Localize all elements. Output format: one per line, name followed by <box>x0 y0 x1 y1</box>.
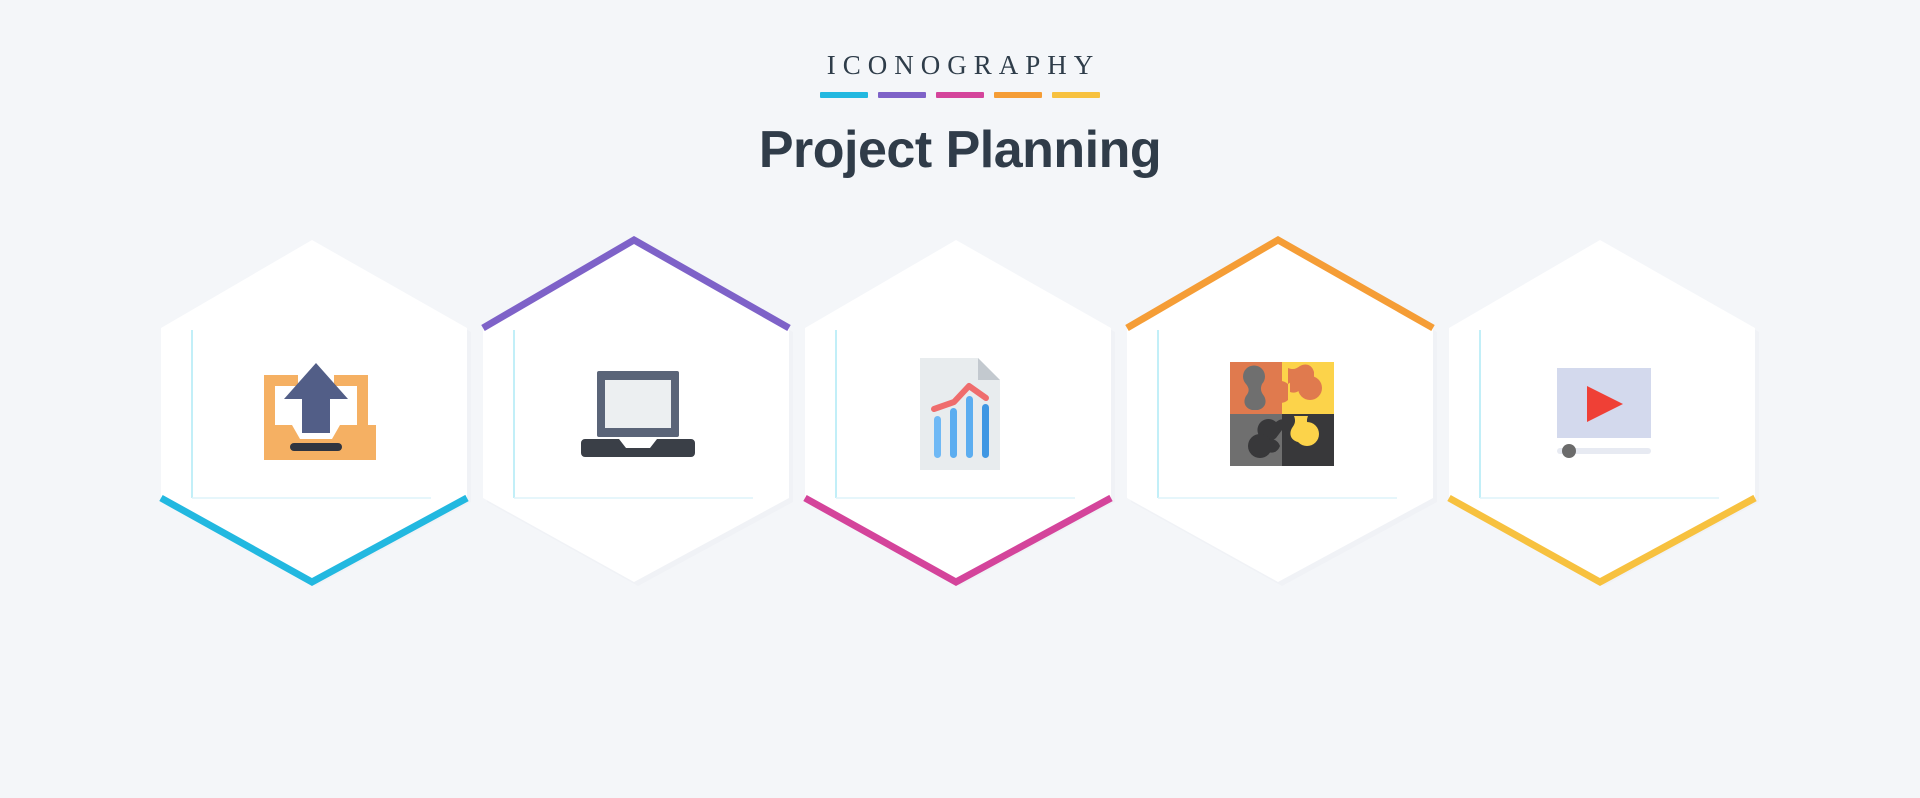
laptop-icon <box>579 365 697 463</box>
hex-tile-video-player[interactable] <box>1439 236 1769 592</box>
rule-orange <box>994 92 1042 98</box>
chart-document-icon <box>910 354 1010 474</box>
icon-slot-laptop <box>473 236 803 592</box>
icon-hex-row <box>0 236 1920 592</box>
hex-tile-laptop[interactable] <box>473 236 803 592</box>
hex-tile-puzzle[interactable] <box>1117 236 1447 592</box>
icon-slot-puzzle <box>1117 236 1447 592</box>
hex-tile-chart-document[interactable] <box>795 236 1125 592</box>
rule-pink <box>936 92 984 98</box>
icon-slot-video-player <box>1439 236 1769 592</box>
rule-purple <box>878 92 926 98</box>
upload-tray-icon <box>256 359 376 469</box>
page-title: Project Planning <box>0 124 1920 176</box>
kicker-text: ICONOGRAPHY <box>0 52 1920 79</box>
icon-slot-upload-tray <box>151 236 481 592</box>
hex-tile-upload-tray[interactable] <box>151 236 481 592</box>
rule-amber <box>1052 92 1100 98</box>
color-rule-row <box>0 92 1920 98</box>
rule-cyan <box>820 92 868 98</box>
page-header: ICONOGRAPHY Project Planning <box>0 0 1920 176</box>
video-player-icon <box>1543 362 1665 466</box>
puzzle-icon <box>1228 360 1336 468</box>
icon-slot-chart-document <box>795 236 1125 592</box>
